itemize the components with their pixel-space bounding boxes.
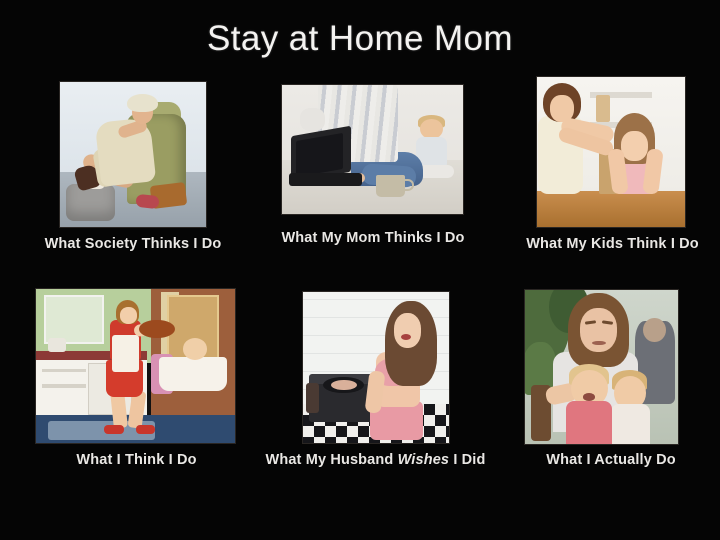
panel-caption-i-actually: What I Actually Do bbox=[502, 452, 720, 468]
caption-prefix: What My Husband bbox=[266, 452, 398, 468]
scene-mom-laptop-floor-baby bbox=[282, 85, 463, 214]
meme-image: Stay at Home Mom What Society Thinks I D… bbox=[0, 0, 720, 540]
panel-image-i-think bbox=[35, 288, 236, 444]
panel-image-i-actually bbox=[524, 289, 679, 445]
panel-image-my-kids bbox=[536, 76, 686, 228]
scene-retro-housewife-serving-turkey bbox=[36, 289, 235, 443]
panel-image-my-mom bbox=[281, 84, 464, 215]
page-title: Stay at Home Mom bbox=[0, 18, 720, 60]
scene-frazzled-mom-two-toddlers bbox=[525, 290, 678, 444]
scene-woman-lounging-armchair bbox=[60, 82, 206, 227]
panel-image-society bbox=[59, 81, 207, 228]
caption-emphasis: Wishes bbox=[398, 452, 450, 468]
panel-caption-society: What Society Thinks I Do bbox=[0, 236, 266, 252]
panel-image-my-husband bbox=[302, 291, 450, 444]
panel-caption-my-kids: What My Kids Think I Do bbox=[505, 236, 720, 252]
caption-suffix: I Did bbox=[449, 452, 485, 468]
panel-caption-my-mom: What My Mom Thinks I Do bbox=[253, 230, 493, 246]
scene-pinup-woman-at-stove bbox=[303, 292, 449, 443]
scene-mother-scolding-girl bbox=[537, 77, 685, 227]
panel-caption-my-husband: What My Husband Wishes I Did bbox=[253, 452, 498, 468]
panel-caption-i-think: What I Think I Do bbox=[24, 452, 249, 468]
